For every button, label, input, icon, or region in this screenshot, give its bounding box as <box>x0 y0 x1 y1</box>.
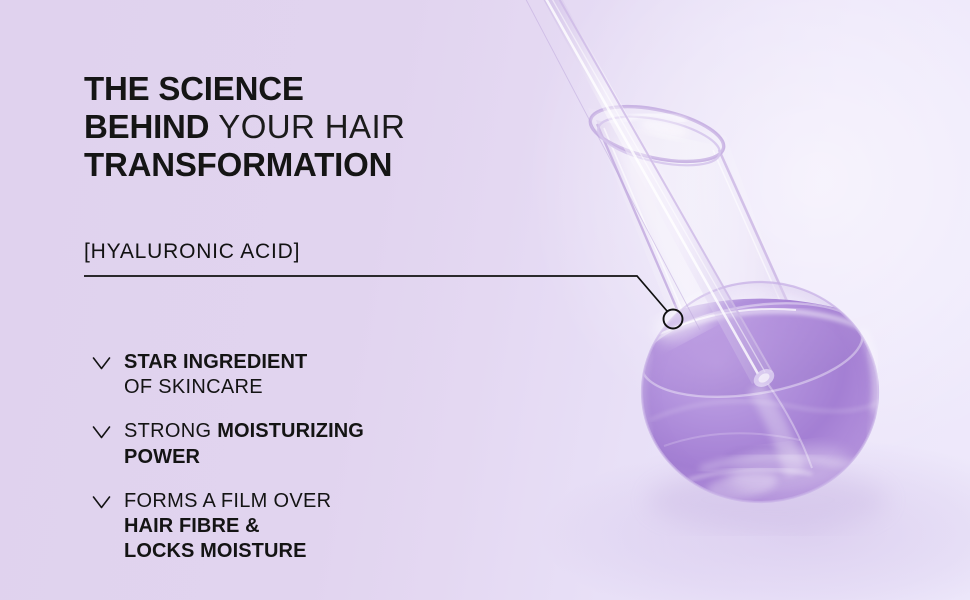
benefit-2-line-1-light: STRONG <box>124 420 217 442</box>
check-mark-icon <box>92 496 111 509</box>
benefit-2-line-1-bold: MOISTURIZING <box>217 420 364 442</box>
headline-line-1: THE SCIENCE <box>84 72 405 105</box>
benefit-3-line-1: FORMS A FILM OVER <box>124 489 331 514</box>
headline-line-2: BEHIND YOUR HAIR <box>84 110 405 143</box>
list-item-text: FORMS A FILM OVER HAIR FIBRE & LOCKS MOI… <box>124 489 331 565</box>
benefit-1-line-1: STAR INGREDIENT <box>124 350 307 375</box>
headline-line-2-strong: BEHIND <box>84 108 209 145</box>
list-item: FORMS A FILM OVER HAIR FIBRE & LOCKS MOI… <box>92 489 512 565</box>
headline-line-2-light: YOUR HAIR <box>209 108 405 145</box>
benefit-2-line-1: STRONG MOISTURIZING <box>124 419 364 444</box>
benefits-list: STAR INGREDIENT OF SKINCARE STRONG MOIST… <box>92 350 512 564</box>
list-item-text: STAR INGREDIENT OF SKINCARE <box>124 350 307 400</box>
headline-line-3-strong: TRANSFORMATION <box>84 146 392 183</box>
headline-line-3: TRANSFORMATION <box>84 148 405 181</box>
benefit-1-line-2: OF SKINCARE <box>124 375 307 400</box>
check-mark-icon <box>92 357 111 370</box>
benefit-2-line-2: POWER <box>124 445 364 470</box>
list-item-text: STRONG MOISTURIZING POWER <box>124 419 364 469</box>
list-item: STAR INGREDIENT OF SKINCARE <box>92 350 512 400</box>
benefit-3-line-2: HAIR FIBRE & <box>124 514 331 539</box>
page-title: THE SCIENCE BEHIND YOUR HAIR TRANSFORMAT… <box>84 72 405 186</box>
list-item: STRONG MOISTURIZING POWER <box>92 419 512 469</box>
check-mark-icon <box>92 426 111 439</box>
ingredient-label-group: [HYALURONIC ACID] <box>84 240 300 264</box>
benefit-3-line-3: LOCKS MOISTURE <box>124 539 331 564</box>
promo-banner: THE SCIENCE BEHIND YOUR HAIR TRANSFORMAT… <box>0 0 970 600</box>
ingredient-name: [HYALURONIC ACID] <box>84 240 300 264</box>
headline-line-1-strong: THE SCIENCE <box>84 70 304 107</box>
